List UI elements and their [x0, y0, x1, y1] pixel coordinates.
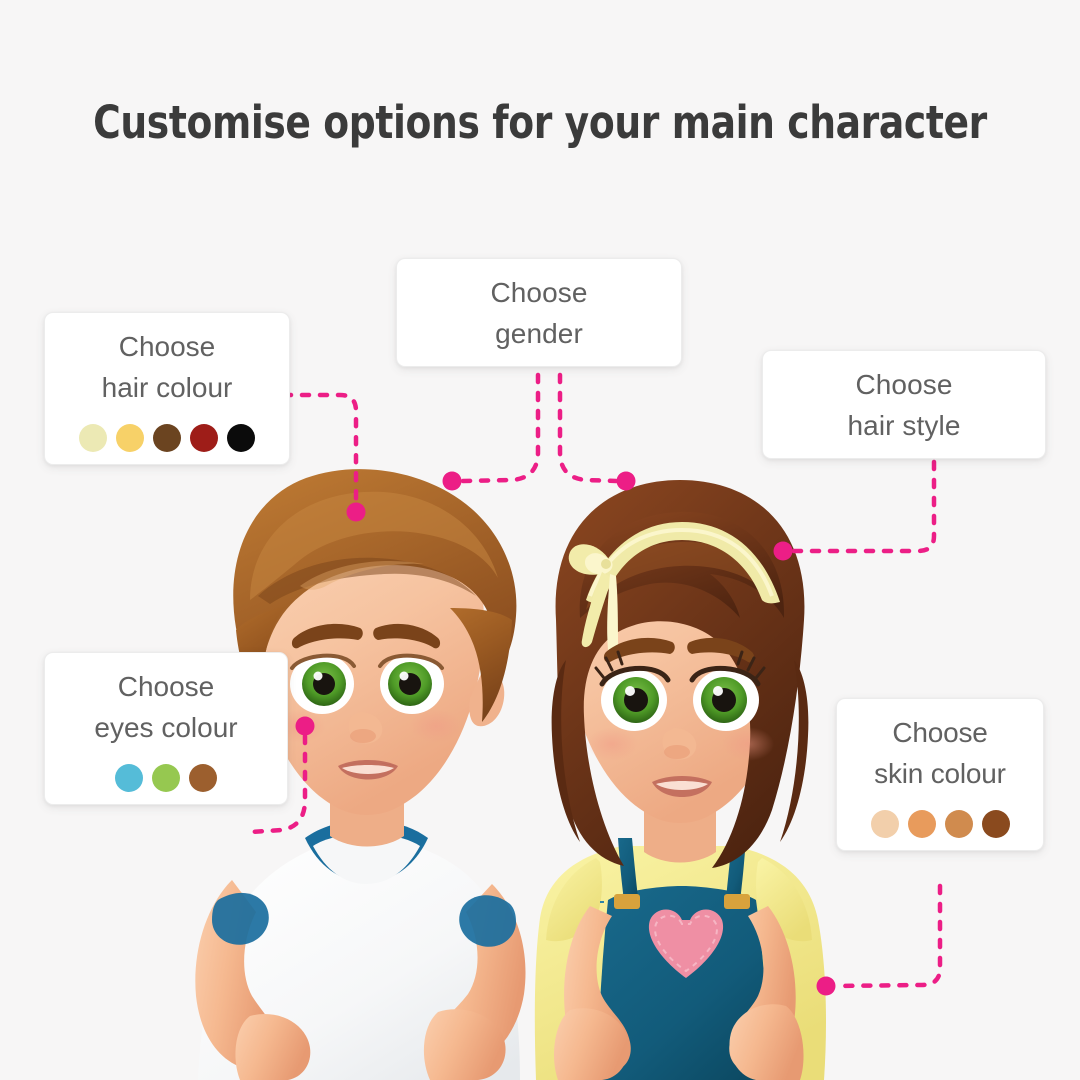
swatch-dark-brown-skin[interactable] [982, 810, 1010, 838]
swatch-black[interactable] [227, 424, 255, 452]
character-illustration [0, 0, 1080, 1080]
swatch-auburn-red[interactable] [190, 424, 218, 452]
swatch-green-eyes[interactable] [152, 764, 180, 792]
callout-hair-style-label: Choose hair style [779, 365, 1029, 446]
page-title: Customise options for your main characte… [38, 96, 1042, 149]
callout-eyes-colour[interactable]: Choose eyes colour [44, 652, 288, 805]
girl-character [535, 480, 826, 1080]
girl-head [552, 480, 809, 868]
callout-hair-colour-label: Choose hair colour [61, 327, 273, 408]
swatch-light-skin[interactable] [871, 810, 899, 838]
skin-colour-swatches [845, 810, 1035, 838]
swatch-blue-eyes[interactable] [115, 764, 143, 792]
swatch-golden-blonde[interactable] [116, 424, 144, 452]
eyes-colour-swatches [61, 764, 271, 792]
swatch-medium-brown[interactable] [153, 424, 181, 452]
swatch-medium-tan-skin[interactable] [945, 810, 973, 838]
swatch-platinum-blonde[interactable] [79, 424, 107, 452]
callout-skin-colour-label: Choose skin colour [845, 713, 1035, 794]
hair-colour-swatches [61, 424, 273, 452]
callout-eyes-colour-label: Choose eyes colour [61, 667, 271, 748]
callout-gender-label: Choose gender [413, 273, 665, 354]
swatch-light-tan-skin[interactable] [908, 810, 936, 838]
callout-gender[interactable]: Choose gender [396, 258, 682, 367]
customisation-screen: Customise options for your main characte… [0, 0, 1080, 1080]
callout-skin-colour[interactable]: Choose skin colour [836, 698, 1044, 851]
callout-hair-style[interactable]: Choose hair style [762, 350, 1046, 459]
callout-hair-colour[interactable]: Choose hair colour [44, 312, 290, 465]
swatch-brown-eyes[interactable] [189, 764, 217, 792]
